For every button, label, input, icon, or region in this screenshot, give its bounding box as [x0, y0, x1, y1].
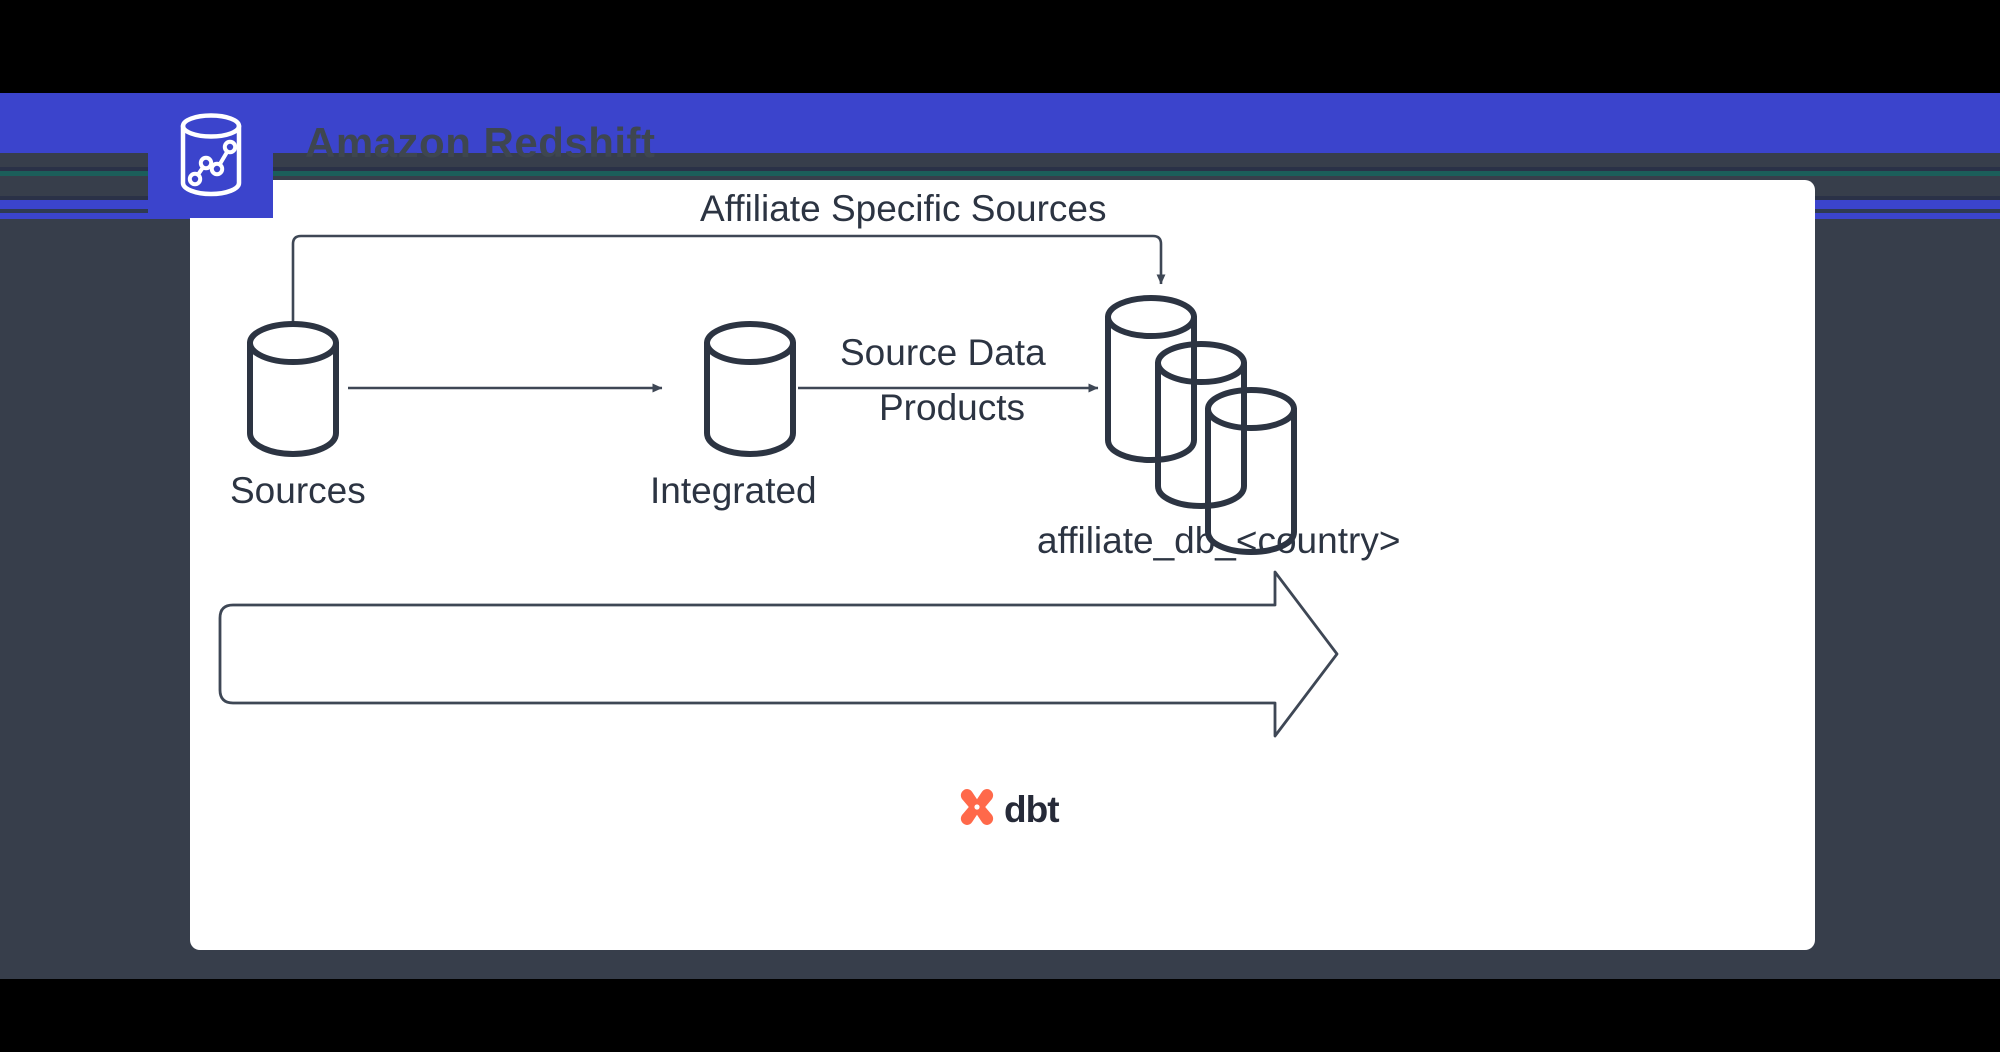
node-label-sources: Sources [230, 470, 366, 512]
bottom-black-band [0, 979, 2000, 1052]
top-black-band [0, 0, 2000, 93]
render-artifact-band [0, 153, 2000, 167]
node-sources-cylinder [250, 324, 336, 454]
node-affiliate-db-cluster [1108, 298, 1294, 552]
node-integrated-cylinder [707, 324, 793, 454]
dbt-wordmark: dbt [1004, 791, 1059, 828]
architecture-diagram [190, 180, 1815, 950]
screenshot-root: Amazon Redshift [0, 0, 2000, 1052]
brand-header-bar [0, 93, 2000, 153]
redshift-icon-tile [148, 93, 273, 218]
page-title: Amazon Redshift [305, 119, 656, 167]
edge-label-source-data-products-line2: Products [879, 387, 1025, 429]
edge-label-source-data-products-line1: Source Data [840, 332, 1046, 374]
node-label-affiliate-db: affiliate_db_<country> [1037, 520, 1400, 562]
node-label-integrated: Integrated [650, 470, 817, 512]
dbt-logo-lockup: dbt [957, 787, 1059, 832]
dbt-x-mark-icon [957, 787, 997, 832]
edge-affiliate-specific-sources [293, 236, 1161, 325]
diagram-card: Affiliate Specific Sources Source Data P… [190, 180, 1815, 950]
redshift-database-analytics-icon [178, 113, 244, 199]
dbt-transform-arrow [220, 572, 1337, 736]
edge-label-affiliate-specific-sources: Affiliate Specific Sources [700, 188, 1107, 230]
